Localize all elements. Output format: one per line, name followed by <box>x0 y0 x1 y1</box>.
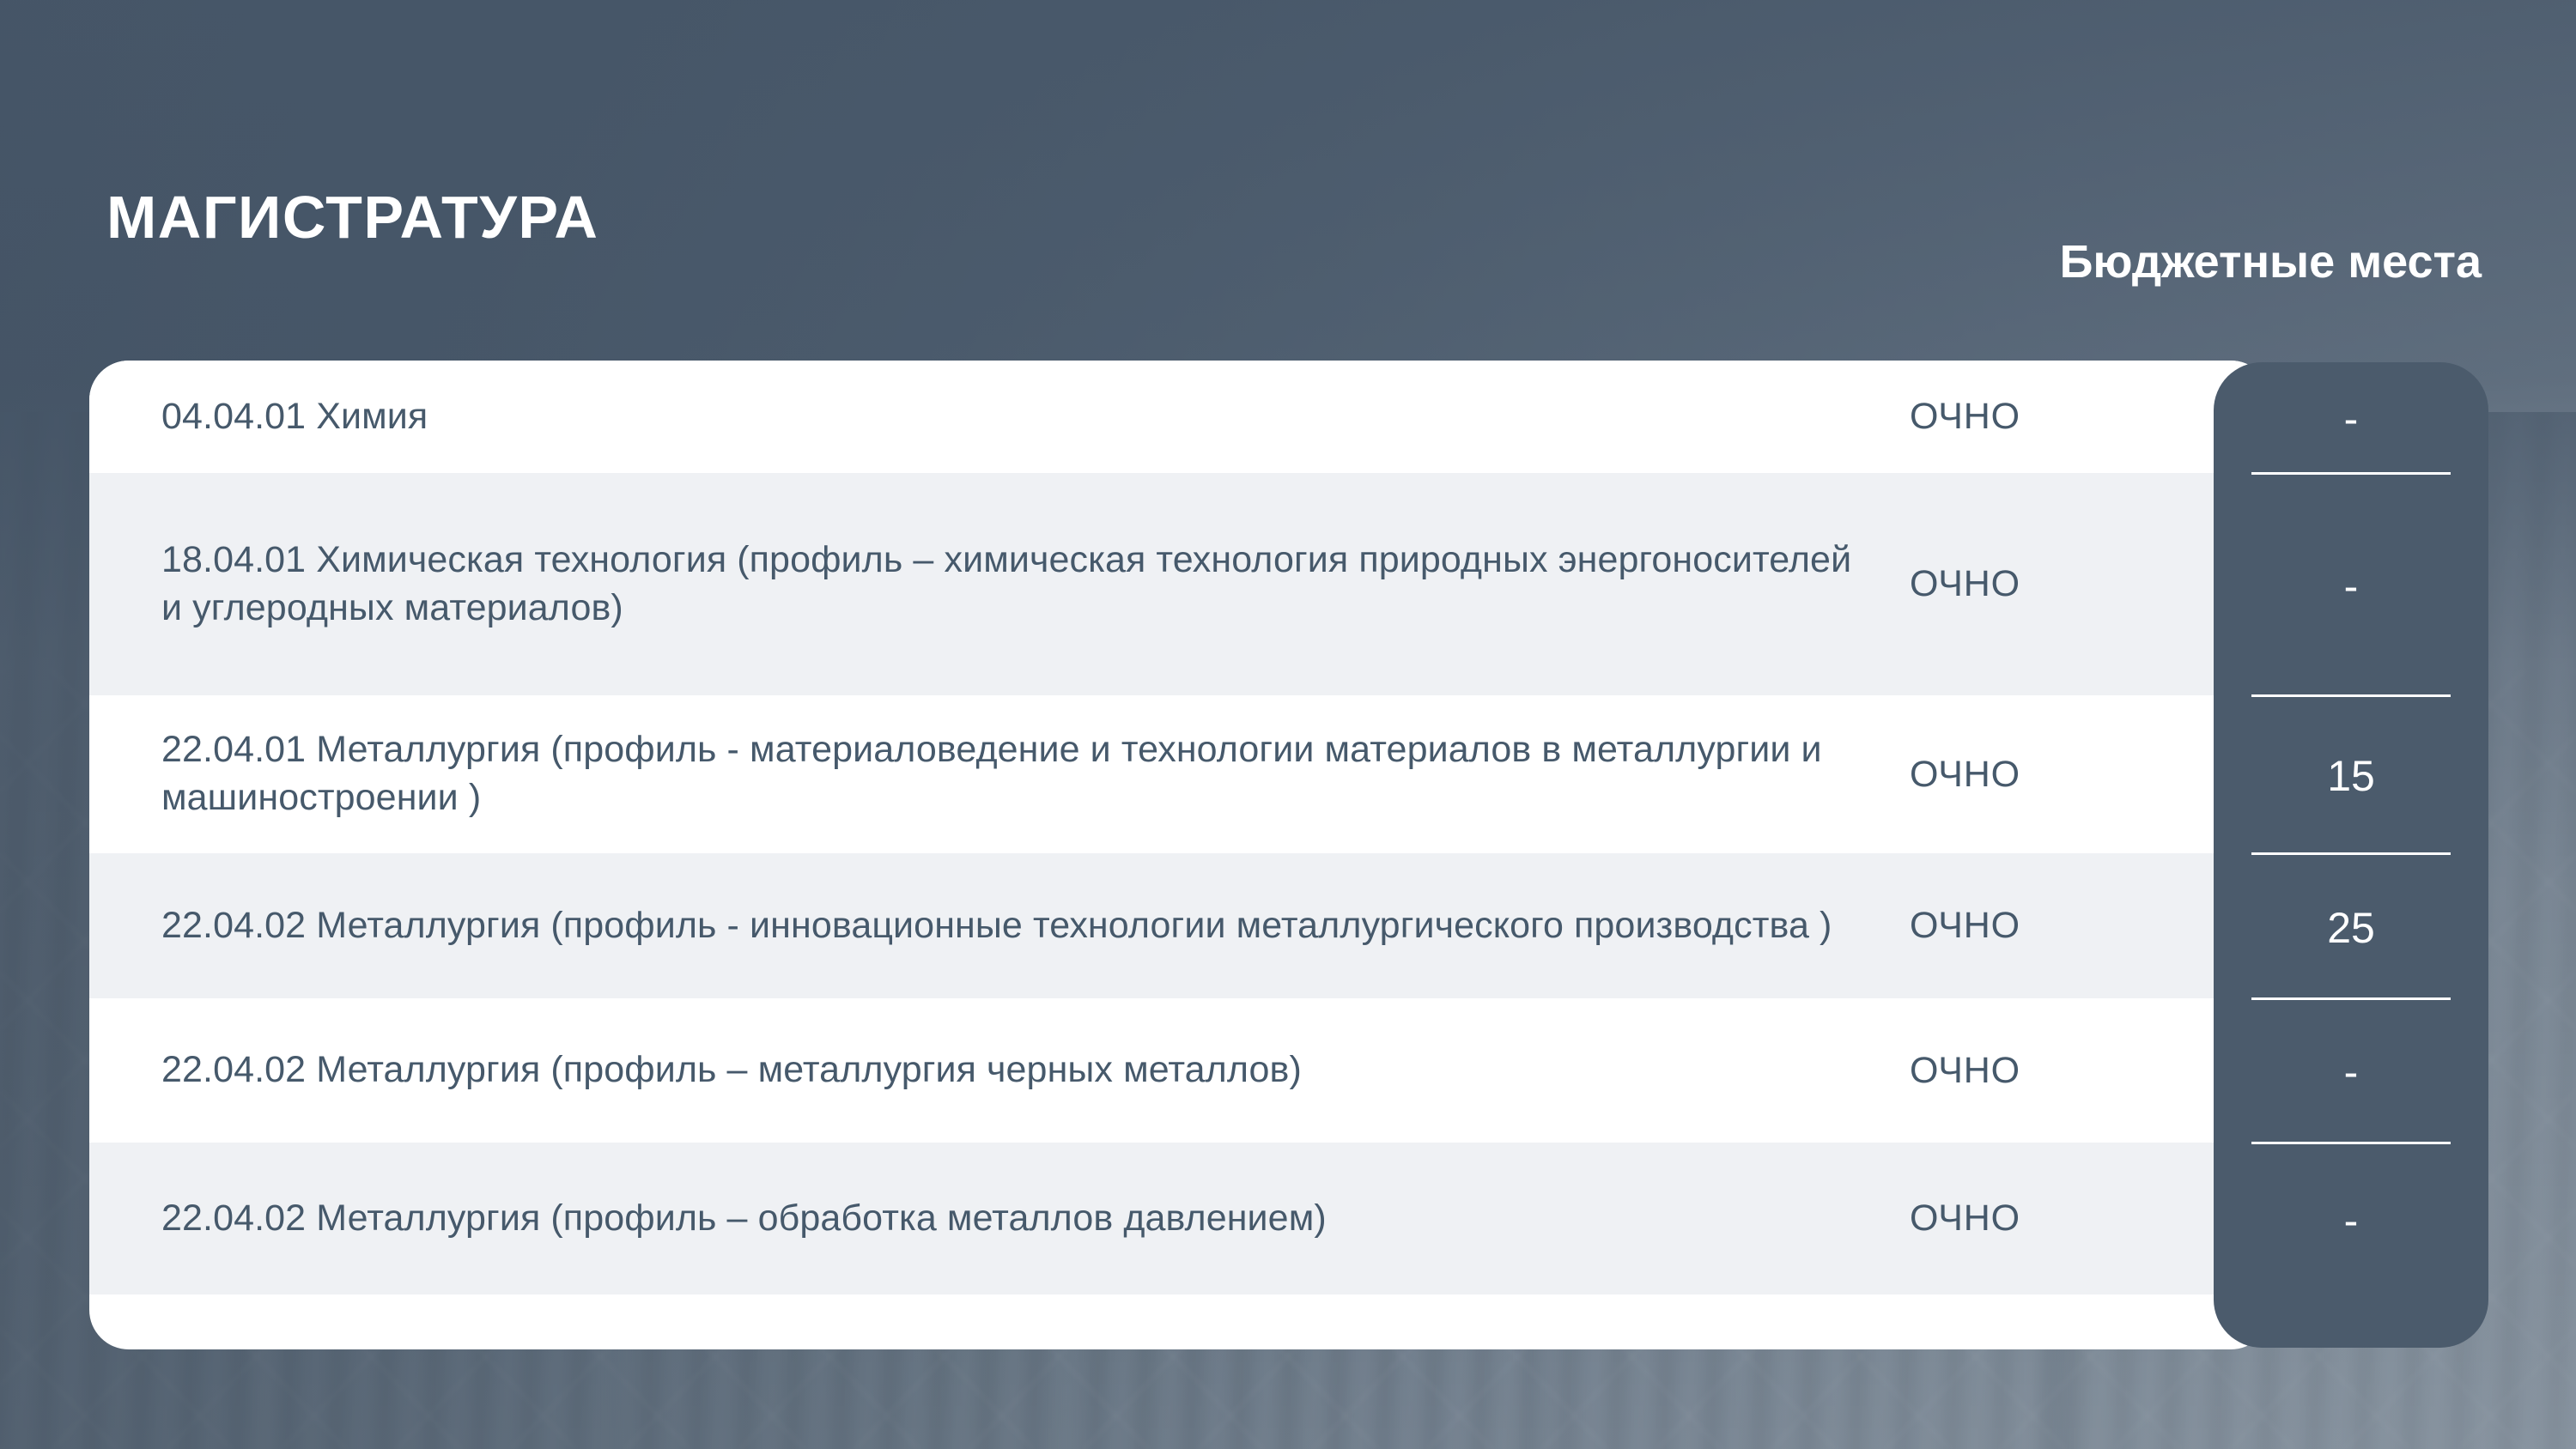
program-name: 22.04.02 Металлургия (профиль – металлур… <box>161 1046 1891 1094</box>
budget-places-value: - <box>2344 397 2359 440</box>
budget-places-panel: --1525-- <box>2214 362 2488 1348</box>
budget-places-value: 15 <box>2327 755 2375 797</box>
program-name: 22.04.01 Металлургия (профиль - материал… <box>161 726 1891 822</box>
table-row: 22.04.01 Металлургия (профиль - материал… <box>89 695 2270 853</box>
budget-places-value: - <box>2344 1199 2359 1242</box>
program-name: 18.04.01 Химическая технология (профиль … <box>161 537 1891 633</box>
budget-places-cell: - <box>2214 362 2488 475</box>
table-row: 22.04.02 Металлургия (профиль – металлур… <box>89 998 2270 1143</box>
table-row: 18.04.01 Химическая технология (профиль … <box>89 473 2270 695</box>
program-name: 22.04.02 Металлургия (профиль – обработк… <box>161 1195 1891 1243</box>
page-title: МАГИСТРАТУРА <box>106 187 598 247</box>
table-row: 04.04.01 ХимияОЧНО <box>89 361 2270 473</box>
programs-table-card: 04.04.01 ХимияОЧНО18.04.01 Химическая те… <box>89 361 2270 1349</box>
budget-places-value: 25 <box>2327 906 2375 949</box>
budget-places-cell: - <box>2214 1000 2488 1144</box>
program-name: 22.04.02 Металлургия (профиль - инноваци… <box>161 902 1891 950</box>
budget-places-cell: - <box>2214 475 2488 697</box>
budget-places-column: --1525-- <box>2214 362 2488 1296</box>
table-row: 22.04.02 Металлургия (профиль – обработк… <box>89 1143 2270 1294</box>
budget-places-cell: 15 <box>2214 697 2488 855</box>
table-row: 22.04.02 Металлургия (профиль - инноваци… <box>89 853 2270 998</box>
program-name: 04.04.01 Химия <box>161 393 1891 441</box>
budget-places-value: - <box>2344 565 2359 608</box>
slide-root: МАГИСТРАТУРА Бюджетные места 04.04.01 Хи… <box>0 0 2576 1449</box>
budget-places-cell: 25 <box>2214 855 2488 1000</box>
budget-places-header: Бюджетные места <box>2060 239 2482 285</box>
budget-places-cell: - <box>2214 1144 2488 1296</box>
programs-table-body: 04.04.01 ХимияОЧНО18.04.01 Химическая те… <box>89 361 2270 1294</box>
budget-places-value: - <box>2344 1051 2359 1094</box>
